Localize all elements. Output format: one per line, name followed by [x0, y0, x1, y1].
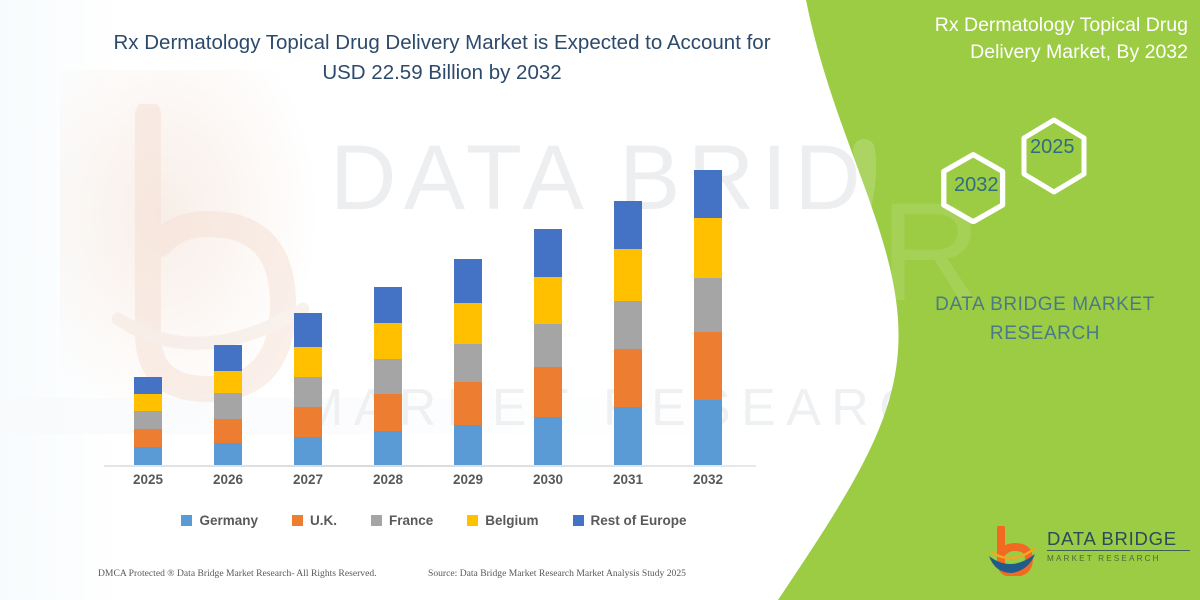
bar-column — [374, 287, 402, 465]
bar-segment-rest-of-europe — [134, 377, 162, 394]
footer-source: Source: Data Bridge Market Research Mark… — [428, 568, 686, 579]
x-tick-2027: 2027 — [278, 472, 338, 487]
bar-segment-belgium — [454, 303, 482, 344]
bar-segment-belgium — [134, 394, 162, 411]
footer-copyright: DMCA Protected ® Data Bridge Market Rese… — [98, 568, 377, 579]
bar-segment-u-k — [294, 407, 322, 437]
bar-column — [614, 201, 642, 465]
bar-segment-belgium — [614, 249, 642, 301]
bar-segment-rest-of-europe — [534, 229, 562, 277]
brand-logo-divider — [1047, 550, 1190, 551]
bar-segment-france — [214, 393, 242, 419]
x-axis-tick-labels: 20252026202720282029203020312032 — [104, 472, 764, 498]
bar-segment-rest-of-europe — [214, 345, 242, 371]
x-tick-2031: 2031 — [598, 472, 658, 487]
hexagon-label-2025: 2025 — [1030, 136, 1075, 159]
panel-brand-text: DATA BRIDGE MARKET RESEARCH — [900, 290, 1190, 348]
stacked-bar-chart: 20252026202720282029203020312032 — [104, 150, 764, 470]
x-tick-2032: 2032 — [678, 472, 738, 487]
bar-segment-u-k — [534, 367, 562, 417]
bar-segment-belgium — [534, 277, 562, 324]
legend-item-u-k[interactable]: U.K. — [292, 513, 337, 528]
legend-label: France — [389, 513, 433, 528]
chart-plot-area — [104, 150, 764, 467]
bar-segment-germany — [534, 417, 562, 465]
legend-item-germany[interactable]: Germany — [181, 513, 258, 528]
bar-segment-u-k — [454, 382, 482, 425]
chart-legend: GermanyU.K.FranceBelgiumRest of Europe — [104, 508, 764, 532]
x-axis-line — [104, 465, 756, 467]
bar-segment-u-k — [214, 419, 242, 443]
bar-segment-france — [694, 278, 722, 332]
bar-segment-belgium — [214, 371, 242, 393]
bar-segment-france — [294, 377, 322, 407]
legend-item-france[interactable]: France — [371, 513, 433, 528]
panel-title: Rx Dermatology Topical Drug Delivery Mar… — [892, 12, 1188, 66]
bar-segment-germany — [134, 447, 162, 465]
hexagon-label-2032: 2032 — [954, 174, 999, 197]
brand-logo: DATA BRIDGE MARKET RESEARCH — [985, 522, 1190, 582]
legend-label: U.K. — [310, 513, 337, 528]
legend-label: Rest of Europe — [591, 513, 687, 528]
bar-segment-u-k — [694, 332, 722, 400]
bar-segment-u-k — [374, 394, 402, 431]
bar-segment-france — [614, 301, 642, 349]
footer: DMCA Protected ® Data Bridge Market Rese… — [0, 566, 790, 588]
legend-swatch-icon — [292, 515, 303, 526]
x-tick-2029: 2029 — [438, 472, 498, 487]
bar-segment-germany — [614, 407, 642, 465]
bar-segment-france — [134, 411, 162, 429]
bar-segment-germany — [214, 443, 242, 465]
bar-column — [694, 170, 722, 465]
brand-logo-text: DATA BRIDGE MARKET RESEARCH — [1047, 528, 1190, 564]
legend-item-rest-of-europe[interactable]: Rest of Europe — [573, 513, 687, 528]
bar-segment-germany — [454, 425, 482, 465]
bar-segment-belgium — [374, 323, 402, 359]
bar-column — [294, 313, 322, 465]
bar-segment-france — [534, 324, 562, 367]
bar-segment-france — [374, 359, 402, 394]
x-tick-2026: 2026 — [198, 472, 258, 487]
x-tick-2025: 2025 — [118, 472, 178, 487]
bar-segment-belgium — [294, 347, 322, 377]
legend-swatch-icon — [467, 515, 478, 526]
legend-swatch-icon — [371, 515, 382, 526]
bar-segment-u-k — [614, 349, 642, 407]
bar-segment-rest-of-europe — [294, 313, 322, 347]
bar-segment-rest-of-europe — [454, 259, 482, 303]
legend-label: Belgium — [485, 513, 538, 528]
x-tick-2030: 2030 — [518, 472, 578, 487]
bar-segment-rest-of-europe — [614, 201, 642, 249]
page-title: Rx Dermatology Topical Drug Delivery Mar… — [112, 28, 772, 88]
bar-segment-u-k — [134, 429, 162, 447]
bar-segment-germany — [374, 431, 402, 465]
bar-segment-france — [454, 344, 482, 382]
brand-logo-tagline: MARKET RESEARCH — [1047, 553, 1190, 564]
bar-segment-belgium — [694, 218, 722, 278]
bar-segment-germany — [694, 400, 722, 465]
legend-label: Germany — [199, 513, 258, 528]
brand-logo-mark-icon — [985, 526, 1039, 576]
bar-segment-rest-of-europe — [694, 170, 722, 218]
legend-swatch-icon — [181, 515, 192, 526]
bar-column — [134, 377, 162, 465]
legend-swatch-icon — [573, 515, 584, 526]
bar-column — [214, 345, 242, 465]
bar-segment-rest-of-europe — [374, 287, 402, 323]
hexagon-group: 2032 2025 — [930, 112, 1120, 222]
bar-segment-germany — [294, 437, 322, 465]
brand-logo-name: DATA BRIDGE — [1047, 528, 1190, 549]
bar-column — [454, 259, 482, 465]
legend-item-belgium[interactable]: Belgium — [467, 513, 538, 528]
bar-column — [534, 229, 562, 465]
infographic-canvas: DATA BRIDGE MARKET RESEARCH R Rx Dermato… — [0, 0, 1200, 600]
x-tick-2028: 2028 — [358, 472, 418, 487]
